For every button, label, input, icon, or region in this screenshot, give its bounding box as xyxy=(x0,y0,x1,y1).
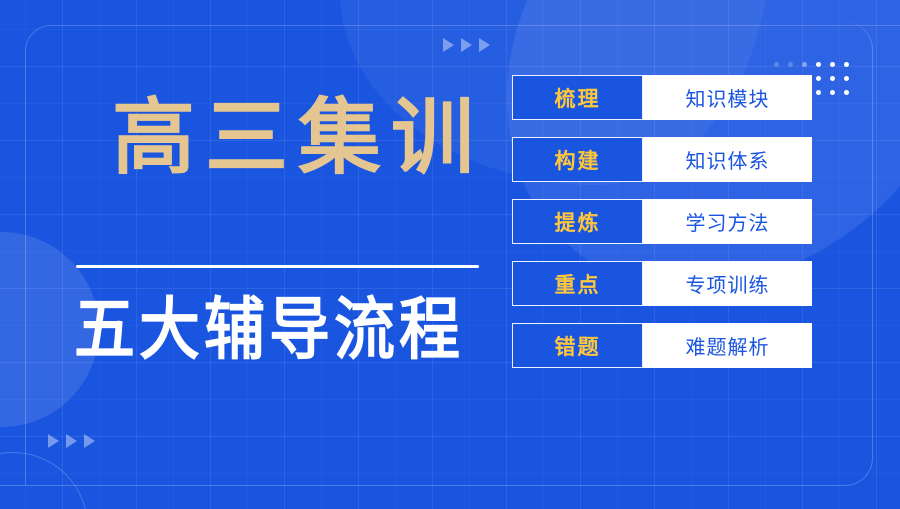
process-row-value: 难题解析 xyxy=(643,323,812,368)
process-row-tag: 提炼 xyxy=(512,199,643,244)
process-row[interactable]: 重点专项训练 xyxy=(512,261,812,306)
process-row-value: 知识体系 xyxy=(643,137,812,182)
process-row-value: 知识模块 xyxy=(643,75,812,120)
headline-block: 高三集训 五大辅导流程 xyxy=(0,0,500,509)
horizontal-rule-icon xyxy=(76,265,479,268)
process-list: 梳理知识模块构建知识体系提炼学习方法重点专项训练错题难题解析 xyxy=(512,75,812,368)
process-row[interactable]: 构建知识体系 xyxy=(512,137,812,182)
sub-title: 五大辅导流程 xyxy=(74,296,464,364)
process-row[interactable]: 提炼学习方法 xyxy=(512,199,812,244)
main-title: 高三集训 xyxy=(112,96,484,179)
process-row-tag: 构建 xyxy=(512,137,643,182)
process-row-tag: 梳理 xyxy=(512,75,643,120)
process-row[interactable]: 梳理知识模块 xyxy=(512,75,812,120)
process-row-value: 专项训练 xyxy=(643,261,812,306)
process-row-tag: 重点 xyxy=(512,261,643,306)
process-row-tag: 错题 xyxy=(512,323,643,368)
poster-canvas: 高三集训 五大辅导流程 梳理知识模块构建知识体系提炼学习方法重点专项训练错题难题… xyxy=(0,0,900,509)
process-row[interactable]: 错题难题解析 xyxy=(512,323,812,368)
process-row-value: 学习方法 xyxy=(643,199,812,244)
